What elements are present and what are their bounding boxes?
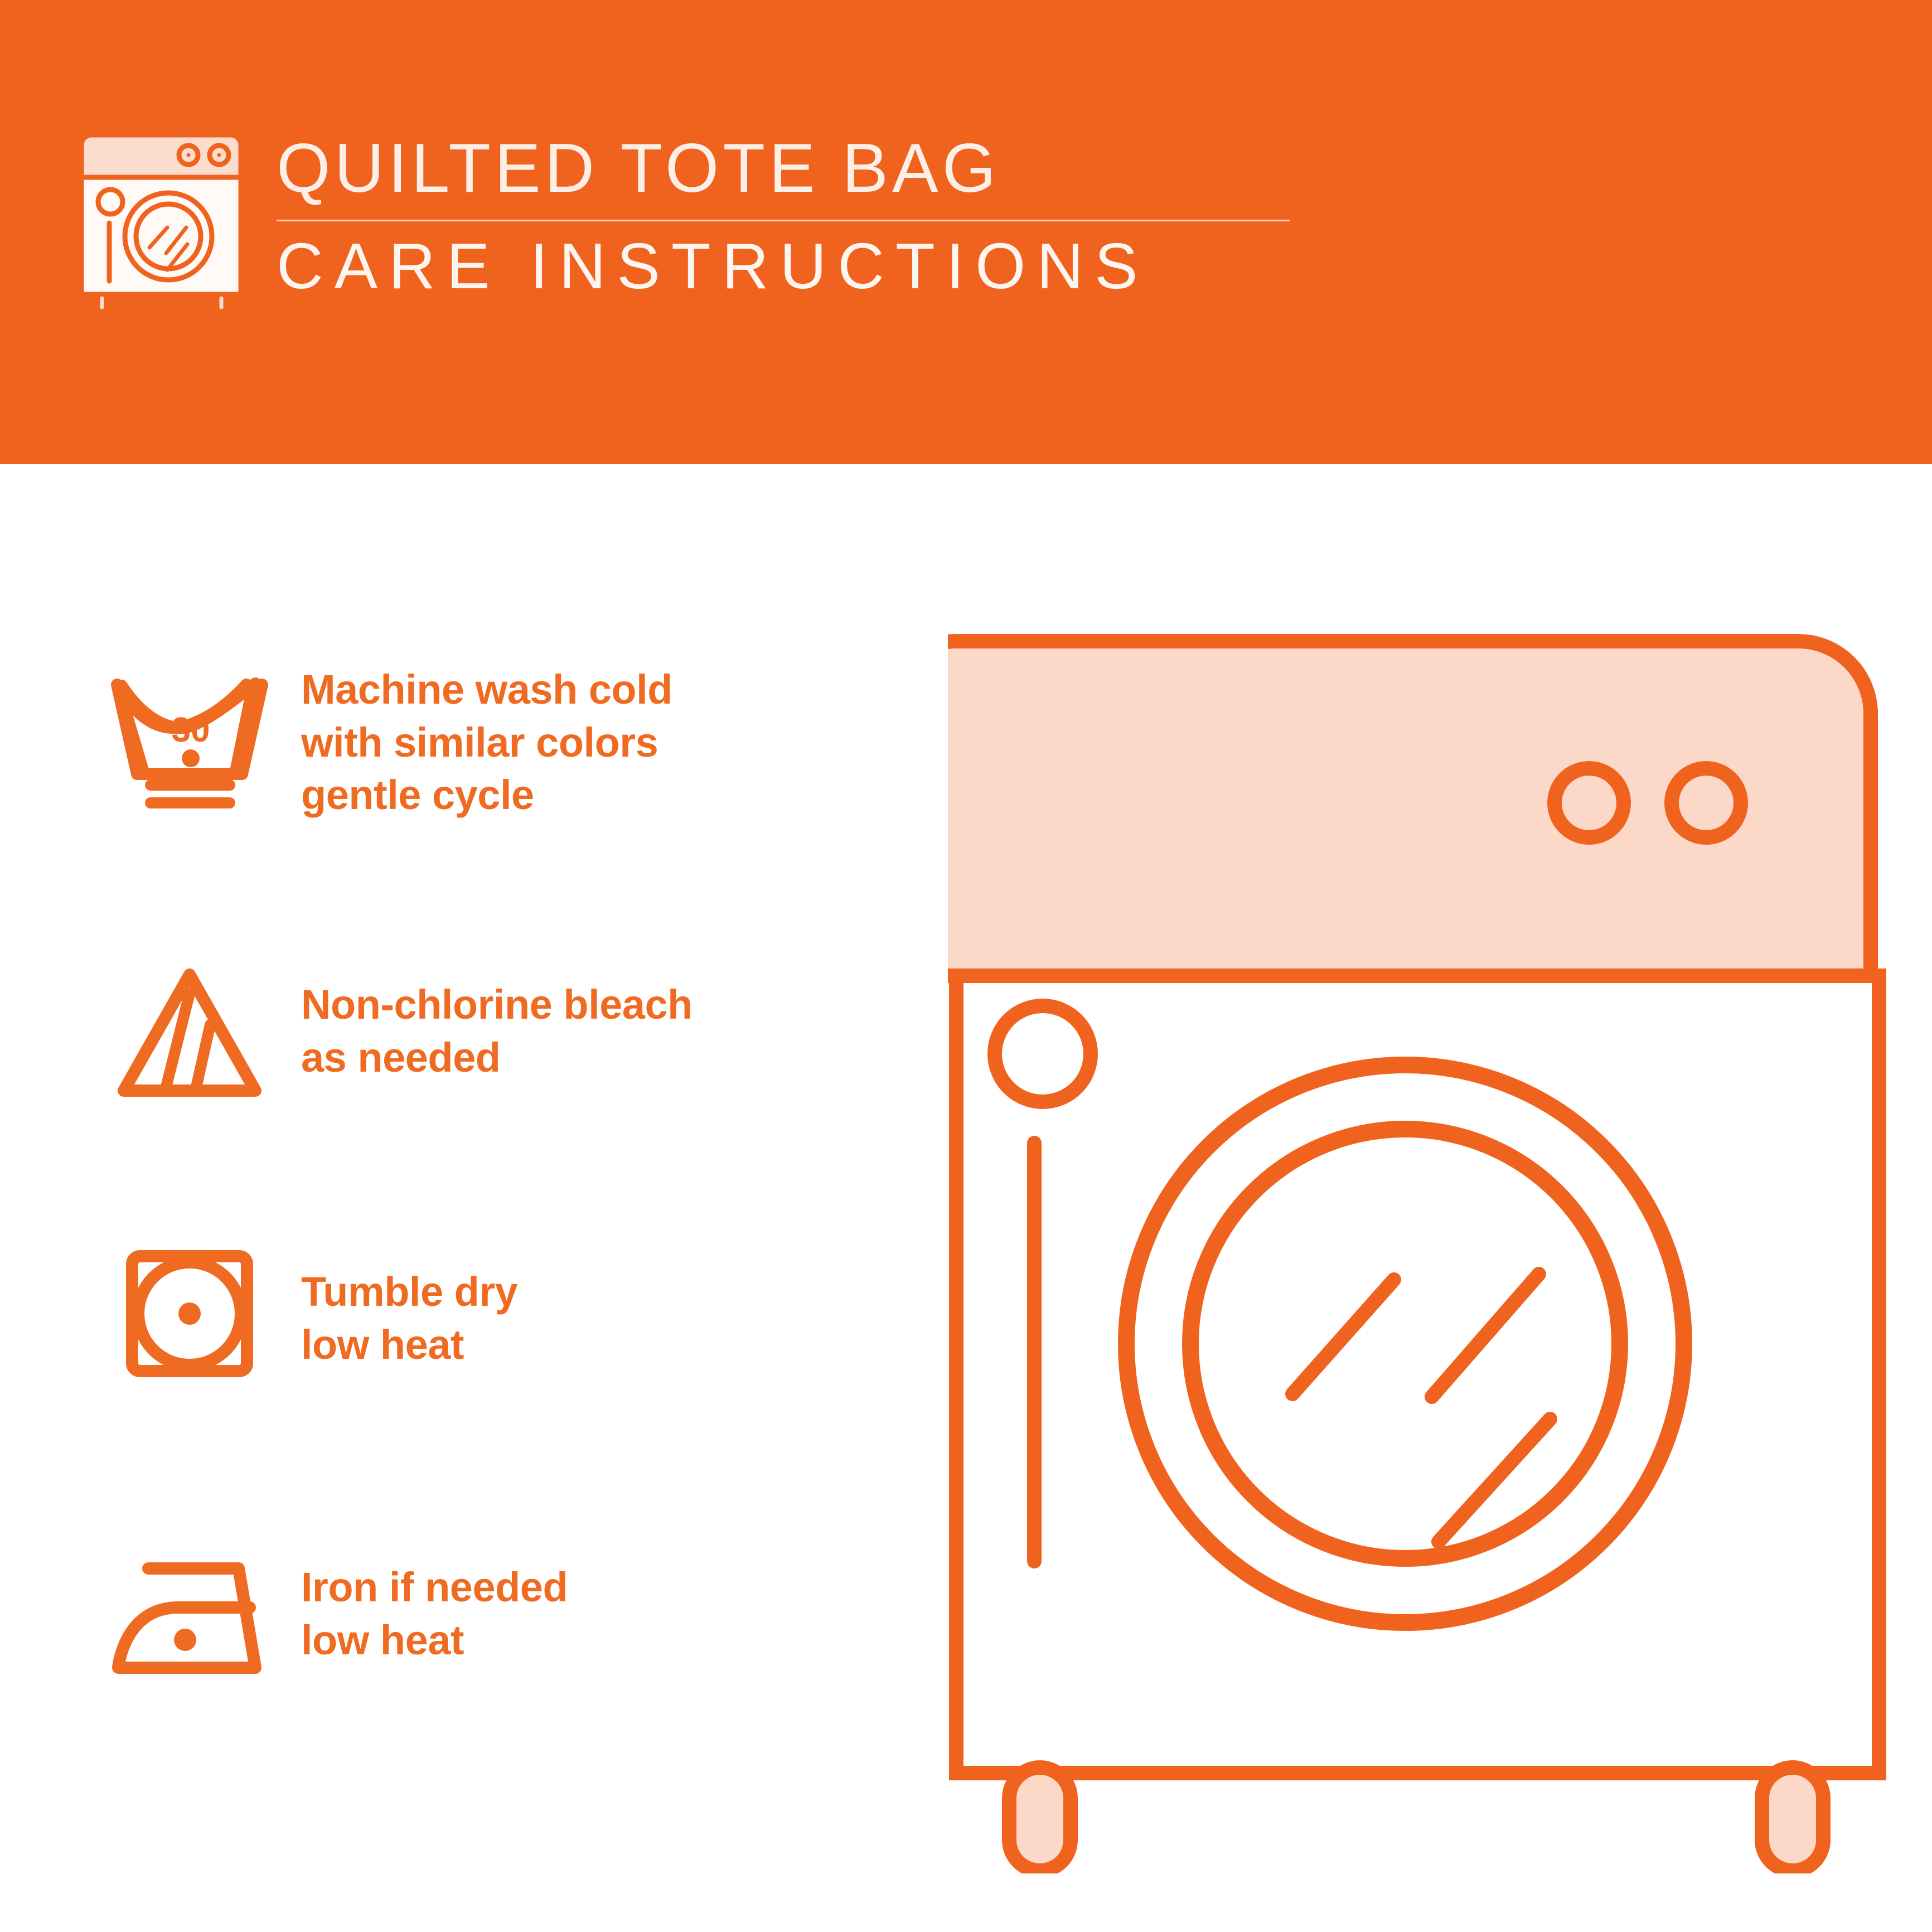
care-item-text: Non-chlorine bleach as needed xyxy=(301,979,693,1084)
foot-right xyxy=(1762,1768,1823,1871)
header-titles: QUILTED TOTE BAG CARE INSTRUCTIONS xyxy=(277,129,1290,298)
page-subtitle: CARE INSTRUCTIONS xyxy=(277,234,1290,298)
care-item-tumble-dry: Tumble dry low heat xyxy=(78,1241,517,1397)
wash-tub-30-icon: 30 xyxy=(78,665,301,821)
care-item-bleach: Non-chlorine bleach as needed xyxy=(78,953,693,1110)
foot-left xyxy=(1009,1768,1071,1871)
page-title: QUILTED TOTE BAG xyxy=(277,134,1290,203)
care-item-text: Tumble dry low heat xyxy=(301,1266,517,1371)
heat-dot-icon xyxy=(174,1629,196,1651)
tumble-dry-icon xyxy=(78,1241,301,1397)
machine-body xyxy=(956,976,1879,1773)
care-item-text: Machine wash cold with similar colors ge… xyxy=(301,664,672,822)
bleach-triangle-icon xyxy=(78,953,301,1110)
heat-dot-icon xyxy=(178,1302,201,1325)
iron-icon xyxy=(78,1536,301,1692)
washing-machine-icon xyxy=(84,129,239,313)
care-item-text: Iron if needed low heat xyxy=(301,1561,568,1667)
title-divider xyxy=(277,220,1290,221)
knob-right xyxy=(1672,768,1741,837)
care-item-machine-wash: 30 Machine wash cold with similar colors… xyxy=(78,664,672,822)
front-load-washing-machine-illustration xyxy=(948,613,1896,1873)
page-header: QUILTED TOTE BAG CARE INSTRUCTIONS xyxy=(0,0,1932,464)
heat-dot-icon xyxy=(182,749,200,767)
header-content: QUILTED TOTE BAG CARE INSTRUCTIONS xyxy=(84,129,1290,313)
wash-temperature-label: 30 xyxy=(172,711,210,749)
knob-left xyxy=(1555,768,1624,837)
care-item-iron: Iron if needed low heat xyxy=(78,1536,568,1692)
